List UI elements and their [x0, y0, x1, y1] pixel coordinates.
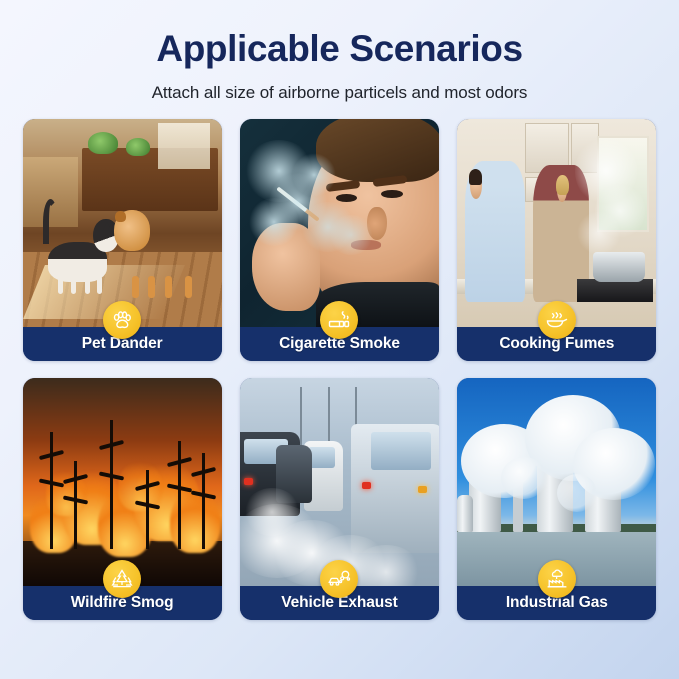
car-exhaust-icon — [320, 560, 358, 598]
scenario-card-industrial-gas[interactable]: Industrial Gas — [457, 378, 656, 620]
page-header: Applicable Scenarios Attach all size of … — [0, 0, 679, 103]
factory-icon — [538, 560, 576, 598]
applicable-scenarios-page: Applicable Scenarios Attach all size of … — [0, 0, 679, 679]
scenario-card-vehicle-exhaust[interactable]: Vehicle Exhaust — [240, 378, 439, 620]
card-photo-pet-dander — [23, 119, 222, 327]
card-photo-cooking-fumes — [457, 119, 656, 327]
card-photo-industrial-gas — [457, 378, 656, 586]
scenario-card-wildfire-smog[interactable]: Wildfire Smog — [23, 378, 222, 620]
page-title: Applicable Scenarios — [0, 26, 679, 72]
cigarette-icon — [320, 301, 358, 339]
scenario-card-cigarette-smoke[interactable]: Cigarette Smoke — [240, 119, 439, 361]
scenario-card-pet-dander[interactable]: Pet Dander — [23, 119, 222, 361]
paw-icon — [103, 301, 141, 339]
card-photo-cigarette-smoke — [240, 119, 439, 327]
page-subtitle: Attach all size of airborne particels an… — [0, 83, 679, 103]
card-photo-vehicle-exhaust — [240, 378, 439, 586]
cooking-pan-icon — [538, 301, 576, 339]
card-photo-wildfire-smog — [23, 378, 222, 586]
scenario-card-cooking-fumes[interactable]: Cooking Fumes — [457, 119, 656, 361]
scenario-grid: Pet Dander — [23, 119, 657, 620]
burning-trees-icon — [103, 560, 141, 598]
